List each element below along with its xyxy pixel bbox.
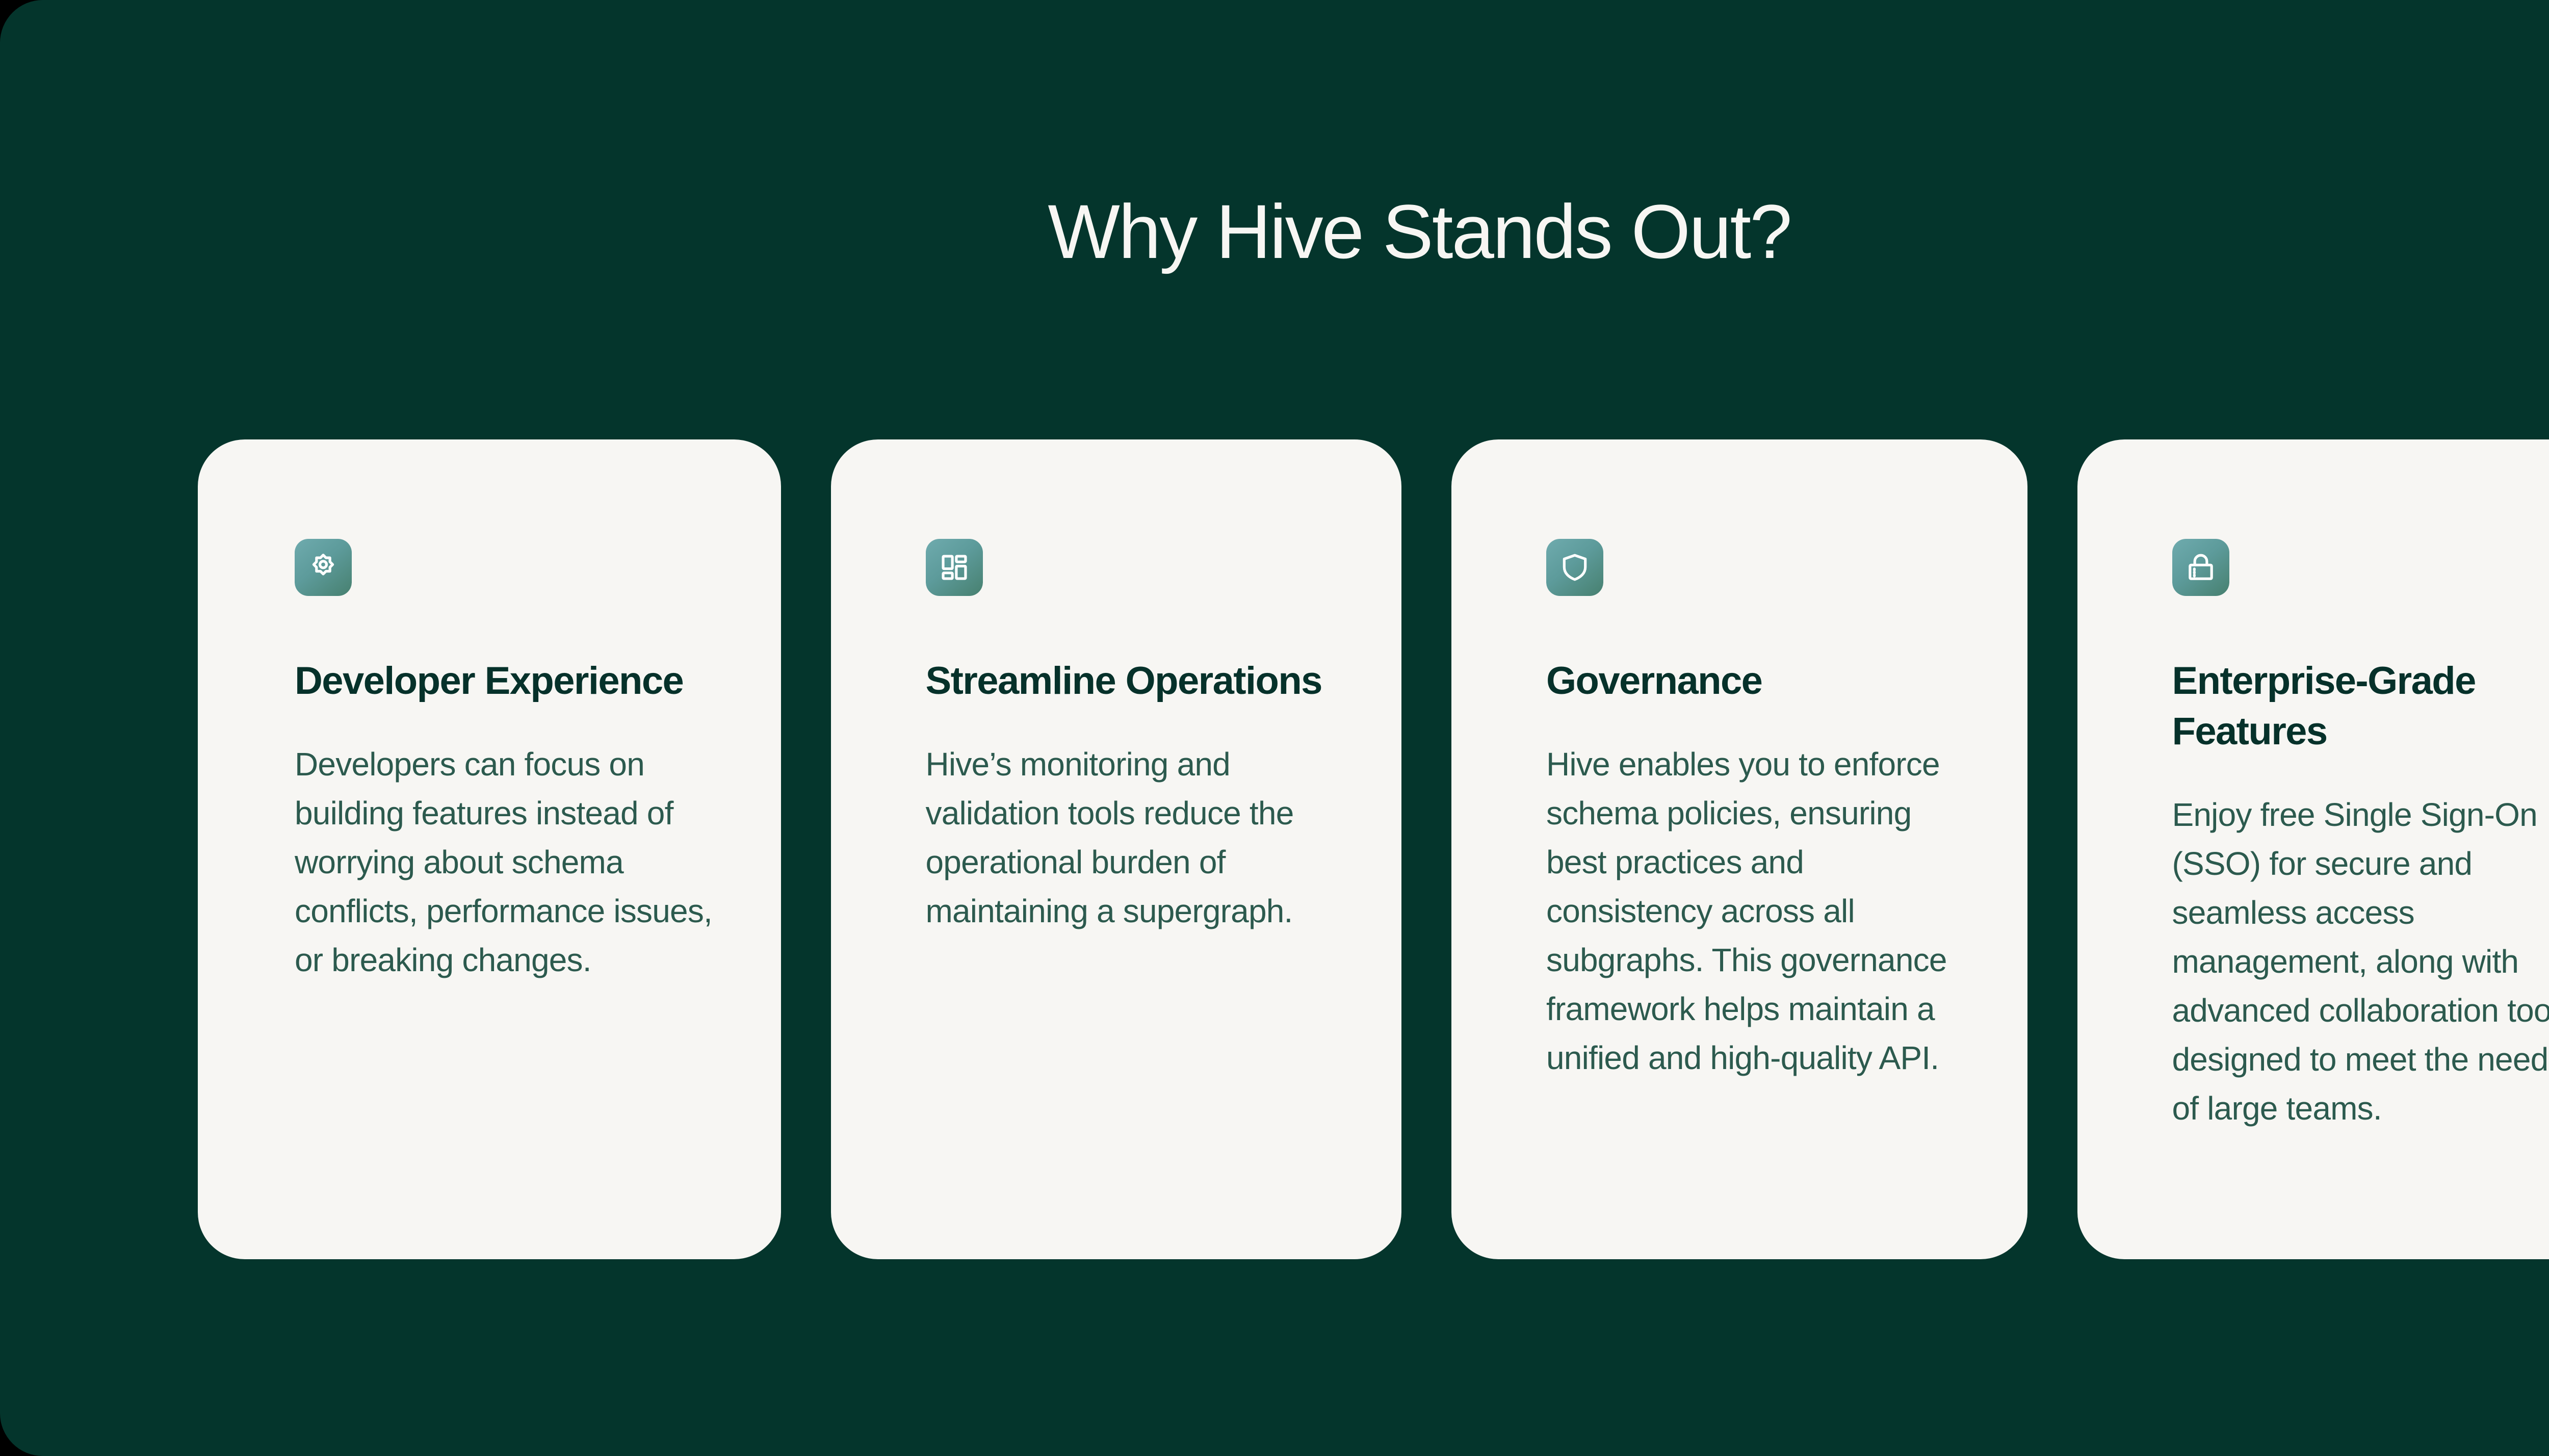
page-title: Why Hive Stands Out?: [0, 189, 2549, 274]
feature-card-body: Hive’s monitoring and validation tools r…: [926, 740, 1346, 935]
shield-icon: [1546, 539, 1603, 596]
feature-card-title: Governance: [1546, 656, 1762, 707]
feature-section: Why Hive Stands Out? Developer Experienc…: [0, 0, 2549, 1456]
feature-card[interactable]: Developer Experience Developers can focu…: [198, 439, 781, 1259]
lock-icon: [2172, 539, 2229, 596]
settings-gear-icon: [295, 539, 352, 596]
feature-card-body: Developers can focus on building feature…: [295, 740, 715, 984]
feature-card-title: Developer Experience: [295, 656, 683, 707]
feature-card-list: Developer Experience Developers can focu…: [198, 439, 2549, 1259]
feature-card[interactable]: Governance Hive enables you to enforce s…: [1451, 439, 2027, 1259]
feature-card-body: Hive enables you to enforce schema polic…: [1546, 740, 1966, 1082]
feature-card[interactable]: Enterprise-Grade Features Enjoy free Sin…: [2077, 439, 2549, 1259]
feature-card-title: Enterprise-Grade Features: [2172, 656, 2549, 757]
feature-card[interactable]: Streamline Operations Hive’s monitoring …: [831, 439, 1402, 1259]
feature-card-body: Enjoy free Single Sign-On (SSO) for secu…: [2172, 790, 2549, 1133]
layout-dashboard-icon: [926, 539, 983, 596]
feature-card-title: Streamline Operations: [926, 656, 1322, 707]
